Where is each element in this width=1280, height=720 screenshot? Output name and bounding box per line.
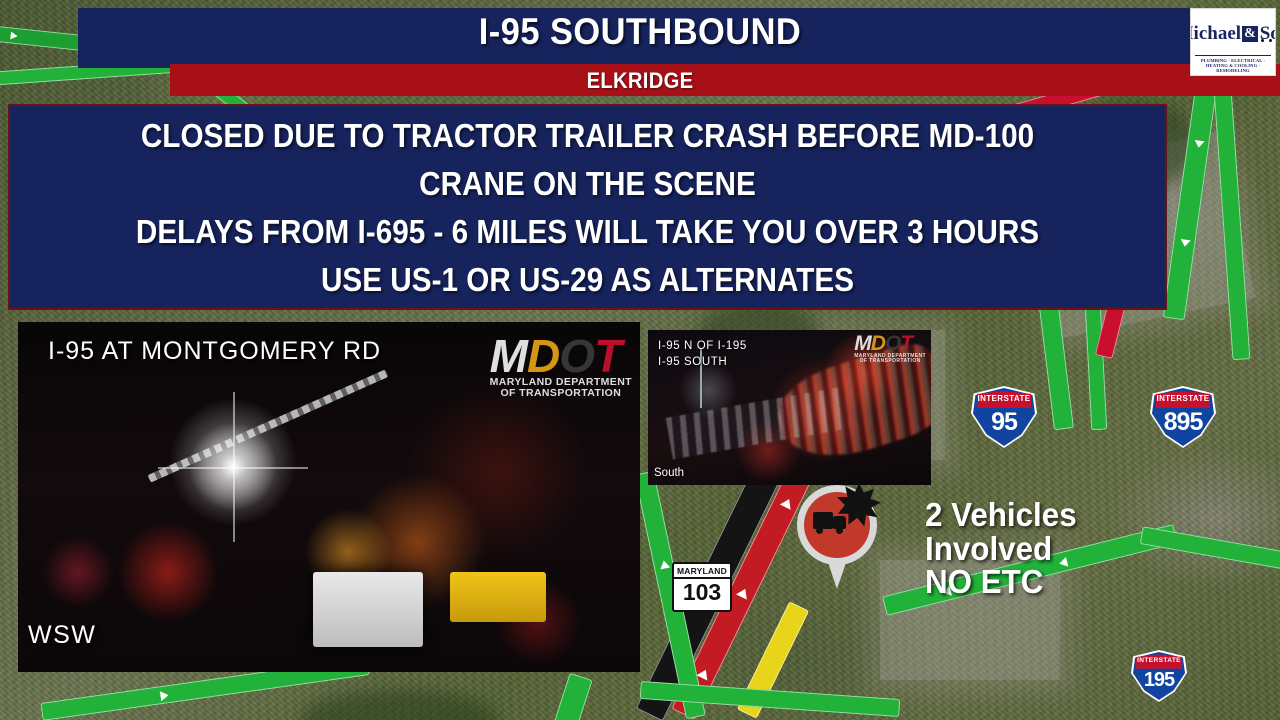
incident-vehicle-count: 2 Vehicles <box>925 498 1077 532</box>
alert-line-3: DELAYS FROM I-695 - 6 MILES WILL TAKE YO… <box>68 213 1108 251</box>
sponsor-brandline: Michael & Son <box>1191 9 1275 55</box>
mdot-logotype: MDOT <box>490 336 632 377</box>
camera-location-label: I-95 AT MONTGOMERY RD <box>48 337 381 366</box>
shield-number: 895 <box>1152 410 1214 435</box>
mdot-letter-m: M <box>490 336 527 377</box>
camera-direction-label: WSW <box>28 621 96 650</box>
truck-crash-icon <box>813 512 847 530</box>
highway-sign <box>450 572 546 622</box>
sponsor-name-first: Michael <box>1190 24 1241 43</box>
alert-line-4: USE US-1 OR US-29 AS ALTERNATES <box>68 261 1108 299</box>
truck-cargo <box>813 512 833 529</box>
main-traffic-camera-feed[interactable]: I-95 AT MONTGOMERY RD WSW MDOT MARYLAND … <box>18 322 640 672</box>
light-glare <box>183 417 283 517</box>
incident-involved-label: Involved <box>925 532 1077 566</box>
mdot-letter-t: T <box>900 335 912 354</box>
alert-line-2: CRANE ON THE SCENE <box>68 165 1108 203</box>
box-truck <box>313 572 423 647</box>
inset-camera-label-line2: I-95 SOUTH <box>658 356 727 368</box>
shield-number: 95 <box>973 410 1035 435</box>
mdot-letter-o: O <box>559 336 594 377</box>
inset-camera-direction: South <box>654 467 684 479</box>
shield-word: INTERSTATE <box>1152 394 1214 403</box>
secondary-traffic-camera-feed[interactable]: I-95 N OF I-195 I-95 SOUTH South MDOT MA… <box>648 330 931 485</box>
page-title: I-95 SOUTHBOUND <box>45 11 1235 53</box>
incident-map-pin[interactable] <box>793 485 881 591</box>
alert-line-1: CLOSED DUE TO TRACTOR TRAILER CRASH BEFO… <box>68 117 1108 155</box>
mdot-watermark: MDOT MARYLAND DEPARTMENT OF TRANSPORTATI… <box>490 336 632 399</box>
mdot-subtitle-line2: OF TRANSPORTATION <box>854 359 926 364</box>
sponsor-ampersand: & <box>1242 26 1258 42</box>
mdot-logotype: MDOT <box>854 335 926 354</box>
mdot-letter-t: T <box>594 336 621 377</box>
alert-message-panel: CLOSED DUE TO TRACTOR TRAILER CRASH BEFO… <box>8 104 1167 310</box>
truck-wheel <box>836 527 843 534</box>
truck-wheel <box>816 527 823 534</box>
maryland-103-shield: MARYLAND 103 <box>672 562 732 612</box>
shield-number: 195 <box>1133 670 1185 690</box>
interstate-95-shield: INTERSTATE 95 <box>973 388 1035 446</box>
shield-word: INTERSTATE <box>1133 657 1185 664</box>
shield-word: MARYLAND <box>674 566 730 576</box>
location-subtitle: ELKRIDGE <box>51 68 1229 94</box>
incident-details: 2 Vehicles Involved NO ETC <box>925 498 1077 599</box>
mdot-letter-d: D <box>527 336 559 377</box>
mdot-letter-m: M <box>854 335 871 354</box>
incident-etc-label: NO ETC <box>925 565 1077 599</box>
sponsor-logo: Michael & Son PLUMBING · ELECTRICAL · HE… <box>1190 8 1276 76</box>
mdot-letter-d: D <box>871 335 885 354</box>
interstate-195-shield: INTERSTATE 195 <box>1133 652 1185 700</box>
mdot-watermark: MDOT MARYLAND DEPARTMENT OF TRANSPORTATI… <box>854 335 926 364</box>
shield-number: 103 <box>674 580 730 604</box>
mdot-letter-o: O <box>885 335 900 354</box>
inset-camera-label-line1: I-95 N OF I-195 <box>658 340 747 352</box>
shield-word: INTERSTATE <box>973 394 1035 403</box>
sponsor-tagline: PLUMBING · ELECTRICAL · HEATING & COOLIN… <box>1191 56 1275 73</box>
interstate-895-shield: INTERSTATE 895 <box>1152 388 1214 446</box>
mdot-subtitle-line2: OF TRANSPORTATION <box>490 388 632 399</box>
